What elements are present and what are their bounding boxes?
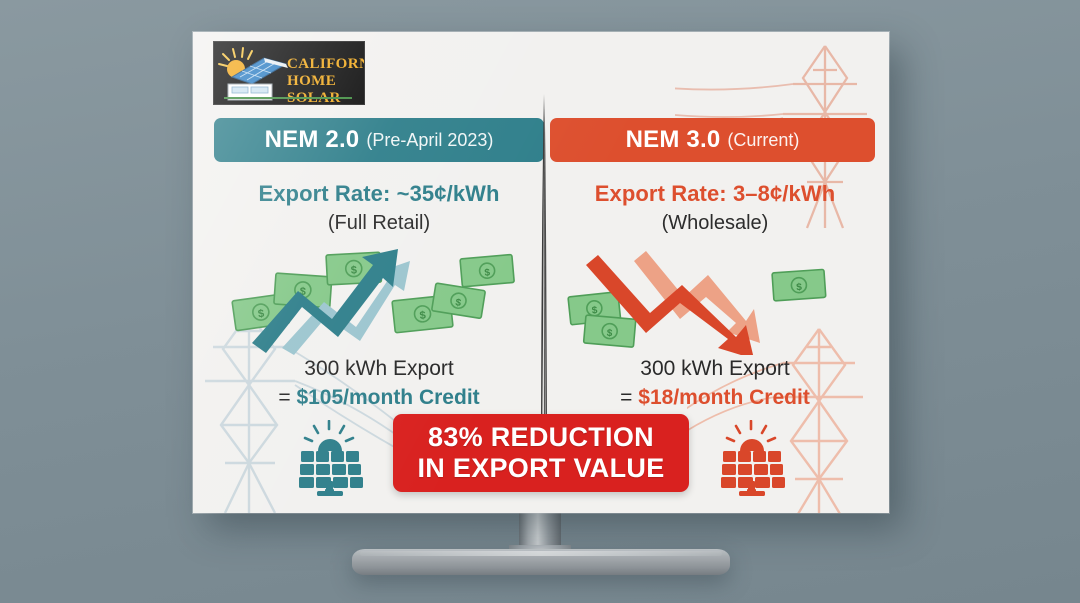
nem3-credit-line: = $18/month Credit (550, 384, 880, 411)
nem3-export-rate: Export Rate: 3–8¢/kWh (550, 180, 880, 208)
svg-text:$: $ (350, 264, 357, 276)
light-trend-arrow (634, 251, 760, 343)
logo-line-1: CALIFORNIA (287, 56, 365, 73)
nem2-column: Export Rate: ~35¢/kWh (Full Retail) $ (214, 180, 544, 411)
solar-house-logo-icon (216, 44, 288, 104)
nem3-credit-value: $18/month Credit (638, 386, 810, 409)
nem3-trend-graphic: $ $ $ (550, 245, 880, 355)
svg-text:$: $ (419, 309, 426, 322)
infographic-board: CALIFORNIA HOME SOLAR NEM 2.0 (Pre-April… (193, 32, 889, 513)
nem2-export-rate: Export Rate: ~35¢/kWh (214, 180, 544, 208)
nem2-credit-line: = $105/month Credit (214, 384, 544, 411)
nem3-column: Export Rate: 3–8¢/kWh (Wholesale) $ (550, 180, 880, 411)
company-logo: CALIFORNIA HOME SOLAR (213, 41, 365, 105)
nem2-banner: NEM 2.0 (Pre-April 2023) (214, 118, 544, 162)
reduction-badge: 83% REDUCTION IN EXPORT VALUE (393, 414, 689, 492)
nem2-export-rate-sub: (Full Retail) (214, 212, 544, 235)
nem2-export-amount: 300 kWh Export (214, 355, 544, 382)
nem2-trend-graphic: $ $ $ (214, 245, 544, 355)
sun-rays (727, 421, 775, 441)
monitor-stand-base-highlight (360, 551, 722, 556)
nem2-banner-note: (Pre-April 2023) (366, 130, 493, 151)
reduction-badge-line-2: IN EXPORT VALUE (417, 453, 664, 484)
solar-panel-icon-left (293, 420, 367, 496)
logo-line-2: HOME SOLAR (287, 73, 365, 105)
nem3-credit-prefix: = (620, 386, 638, 409)
sun-dome (318, 439, 342, 451)
upward-trend-arrow-icon: $ $ $ (214, 245, 544, 355)
nem2-banner-title: NEM 2.0 (265, 126, 360, 154)
nem3-banner-title: NEM 3.0 (626, 126, 721, 154)
nem2-credit-prefix: = (278, 386, 296, 409)
nem2-credit-value: $105/month Credit (296, 386, 479, 409)
screenshot-stage: CALIFORNIA HOME SOLAR NEM 2.0 (Pre-April… (0, 0, 1080, 603)
nem3-banner: NEM 3.0 (Current) (550, 118, 875, 162)
panel-grid (299, 451, 363, 496)
sun-rays (305, 421, 353, 441)
downward-trend-arrow-icon: $ $ $ (550, 245, 880, 355)
nem3-export-amount: 300 kWh Export (550, 355, 880, 382)
solar-panel-icon-right (715, 420, 789, 496)
reduction-badge-line-1: 83% REDUCTION (428, 422, 654, 453)
panel-grid (721, 451, 785, 496)
sun-dome (740, 439, 764, 451)
nem3-banner-note: (Current) (727, 130, 799, 151)
nem3-export-rate-sub: (Wholesale) (550, 212, 880, 235)
logo-underline-rule (224, 97, 352, 99)
